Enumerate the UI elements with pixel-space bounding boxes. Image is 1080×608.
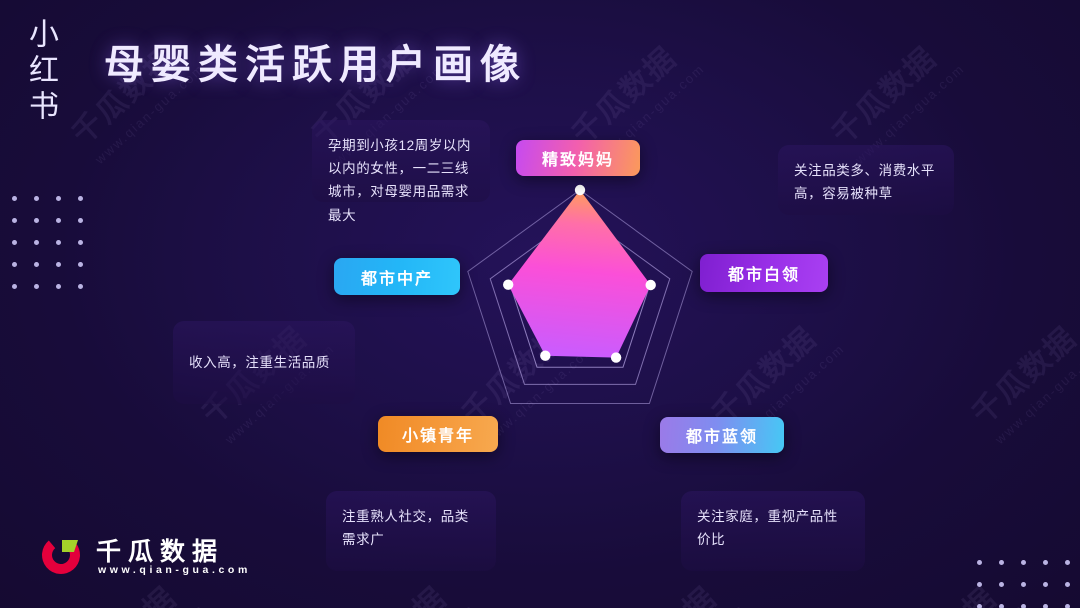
brand-cn-label: 小红书: [18, 18, 62, 126]
watermark-text: 千瓜数据www.qian-gua.com: [960, 305, 1080, 447]
grid-dot: [12, 284, 17, 289]
radar-vertex-dot: [540, 351, 550, 361]
grid-dot: [56, 240, 61, 245]
grid-dot: [1043, 560, 1048, 565]
grid-dot: [1065, 582, 1070, 587]
grid-dot: [12, 240, 17, 245]
note-text: 孕期到小孩12周岁以内以内的女性，一二三线城市，对母婴用品需求最大: [328, 134, 474, 227]
qiangua-logo-icon: [36, 530, 86, 578]
grid-dot: [12, 218, 17, 223]
badge-jingzhi-mama[interactable]: 精致妈妈: [516, 140, 640, 176]
note-card-jingzhi-mama: 孕期到小孩12周岁以内以内的女性，一二三线城市，对母婴用品需求最大: [311, 119, 491, 203]
note-text: 注重熟人社交，品类需求广: [342, 505, 480, 551]
grid-dot: [1043, 604, 1048, 608]
footer-logo: 千瓜数据 www.qian-gua.com: [36, 528, 236, 582]
grid-dot: [78, 284, 83, 289]
badge-dushi-bailing[interactable]: 都市白领: [700, 254, 828, 292]
radar-svg: [440, 168, 720, 418]
grid-dot: [1065, 604, 1070, 608]
grid-dot: [12, 196, 17, 201]
grid-dot: [34, 284, 39, 289]
badge-xiaozhen-qingnian[interactable]: 小镇青年: [378, 416, 498, 452]
radar-vertex-dot: [611, 352, 621, 362]
radar-vertex-dot: [575, 185, 585, 195]
grid-dot: [34, 240, 39, 245]
dot-grid-left: [12, 196, 83, 289]
grid-dot: [78, 262, 83, 267]
grid-dot: [56, 196, 61, 201]
grid-dot: [977, 560, 982, 565]
grid-dot: [34, 196, 39, 201]
note-card-dushi-bailing: 关注品类多、消费水平高，容易被种草: [777, 144, 955, 216]
note-text: 关注家庭，重视产品性价比: [697, 505, 849, 551]
note-text: 收入高，注重生活品质: [189, 351, 330, 374]
page-title: 母婴类活跃用户画像: [104, 32, 527, 90]
grid-dot: [56, 284, 61, 289]
grid-dot: [56, 262, 61, 267]
grid-dot: [78, 196, 83, 201]
grid-dot: [1021, 604, 1026, 608]
vertical-brand: RED red Red 小红书: [0, 4, 70, 194]
grid-dot: [34, 218, 39, 223]
note-card-xiaozhen-qingnian: 注重熟人社交，品类需求广: [325, 490, 497, 572]
radar-data-area: [508, 190, 651, 358]
grid-dot: [1043, 582, 1048, 587]
grid-dot: [999, 604, 1004, 608]
radar-chart: [440, 168, 720, 418]
grid-dot: [999, 560, 1004, 565]
radar-vertex-dot: [503, 280, 513, 290]
grid-dot: [999, 582, 1004, 587]
radar-vertex-dot: [646, 280, 656, 290]
grid-dot: [1065, 560, 1070, 565]
logo-name: 千瓜数据: [96, 532, 224, 568]
note-card-dushi-lanling: 关注家庭，重视产品性价比: [680, 490, 866, 572]
grid-dot: [977, 582, 982, 587]
grid-dot: [56, 218, 61, 223]
grid-dot: [977, 604, 982, 608]
dot-grid-right: [977, 560, 1070, 608]
slide-canvas: 千瓜数据www.qian-gua.com千瓜数据www.qian-gua.com…: [0, 0, 1080, 608]
grid-dot: [78, 240, 83, 245]
grid-dot: [12, 262, 17, 267]
logo-url: www.qian-gua.com: [98, 564, 251, 576]
grid-dot: [34, 262, 39, 267]
badge-dushi-zhongchan[interactable]: 都市中产: [334, 258, 460, 295]
grid-dot: [78, 218, 83, 223]
note-text: 关注品类多、消费水平高，容易被种草: [794, 159, 938, 205]
badge-dushi-lanling[interactable]: 都市蓝领: [660, 417, 784, 453]
grid-dot: [1021, 560, 1026, 565]
note-card-dushi-zhongchan: 收入高，注重生活品质: [172, 320, 356, 405]
grid-dot: [1021, 582, 1026, 587]
